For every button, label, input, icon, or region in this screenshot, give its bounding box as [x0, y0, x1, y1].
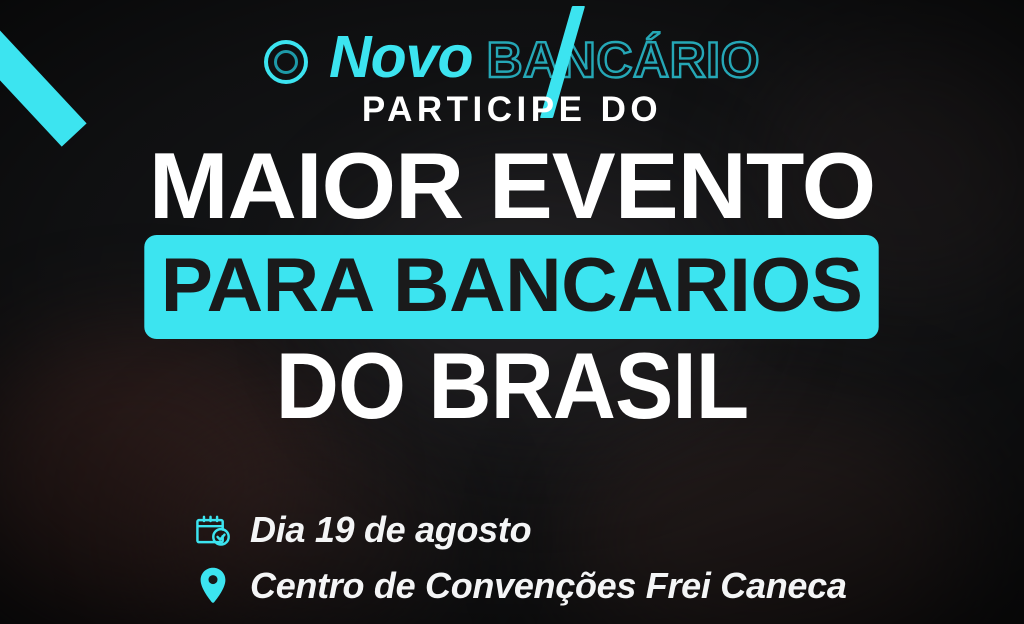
brand-word-bancario: BANCÁRIO: [487, 35, 760, 85]
detail-row-location: Centro de Convenções Frei Caneca: [193, 564, 847, 608]
brand-lockup: Novo BANCÁRIO: [0, 22, 1024, 92]
brand-row: Novo BANCÁRIO: [264, 28, 760, 87]
headline-kicker: PARTICIPE DO: [0, 92, 1024, 127]
detail-text-location: Centro de Convenções Frei Caneca: [250, 568, 847, 604]
headline-block: PARTICIPE DO MAIOR EVENTO PARA BANCARIOS…: [0, 92, 1024, 431]
detail-row-date: Dia 19 de agosto: [193, 508, 847, 552]
headline-line-2-highlighted: PARA BANCARIOS: [145, 235, 880, 339]
event-details: Dia 19 de agosto Centro de Convenções Fr…: [193, 508, 847, 608]
headline-line-1: MAIOR EVENTO: [0, 141, 1024, 231]
detail-text-date: Dia 19 de agosto: [250, 512, 531, 548]
headline-line-2-wrapper: PARA BANCARIOS: [0, 235, 1024, 339]
promo-poster: Novo BANCÁRIO PARTICIPE DO MAIOR EVENTO …: [0, 0, 1024, 624]
brand-circle-o-icon: [264, 40, 308, 84]
calendar-check-icon: [193, 508, 233, 552]
headline-line-3: DO BRASIL: [36, 341, 988, 431]
map-pin-icon: [193, 564, 233, 608]
brand-word-novo: Novo: [323, 28, 473, 87]
